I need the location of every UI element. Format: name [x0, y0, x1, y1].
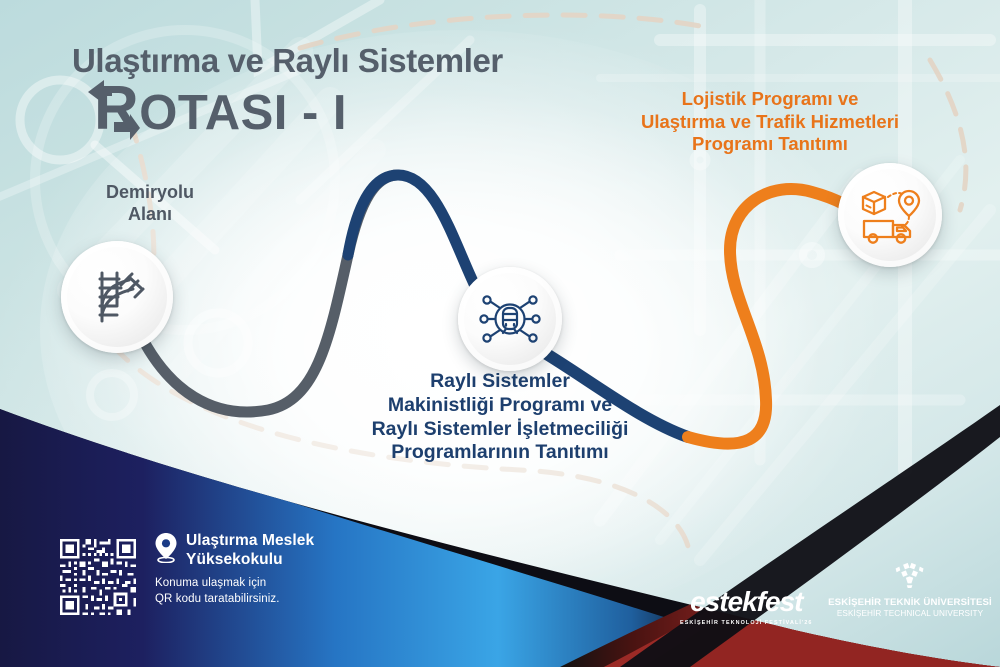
poster-canvas: Ulaştırma ve Raylı Sistemler ROTASI - I …: [0, 0, 1000, 667]
university-name-tr: ESKİŞEHİR TEKNİK ÜNİVERSİTESİ: [820, 597, 1000, 608]
delivery-truck-icon: [857, 183, 923, 247]
station-label-railway-area: Demiryolu Alanı: [70, 182, 230, 226]
station-node-rail-systems[interactable]: [458, 267, 562, 371]
page-title: Ulaştırma ve Raylı Sistemler: [72, 44, 632, 78]
station-label-logistics: Lojistik Programı ve Ulaştırma ve Trafik…: [600, 88, 940, 156]
station-node-railway-area[interactable]: [61, 241, 173, 353]
qr-code[interactable]: [57, 536, 139, 618]
university-name-en: ESKİŞEHİR TECHNICAL UNIVERSITY: [820, 609, 1000, 618]
qr-instruction: Konuma ulaşmak için QR kodu taratabilirs…: [155, 576, 314, 608]
train-network-icon: [478, 287, 542, 351]
qr-location-block: Ulaştırma Meslek Yüksekokulu Konuma ulaş…: [57, 532, 357, 642]
rota-title-row: ROTASI - I: [72, 80, 632, 142]
location-pin-icon: [155, 533, 177, 563]
university-mark-icon: [891, 562, 928, 588]
university-logo: ESKİŞEHİR TEKNİK ÜNİVERSİTESİ ESKİŞEHİR …: [820, 562, 1000, 618]
rota-capital: R: [94, 74, 139, 143]
qr-place-row: Ulaştırma Meslek Yüksekokulu: [155, 532, 314, 569]
rota-rest: OTASI - I: [139, 86, 347, 140]
qr-place-name: Ulaştırma Meslek Yüksekokulu: [186, 532, 314, 569]
estekfest-logo: estekfest ESKİŞEHİR TEKNOLOJİ FESTİVALİ'…: [680, 588, 813, 626]
railway-switch-icon: [85, 265, 149, 329]
estekfest-wordmark: estekfest: [680, 588, 813, 616]
station-node-logistics[interactable]: [838, 163, 942, 267]
estekfest-tagline: ESKİŞEHİR TEKNOLOJİ FESTİVALİ'26: [680, 620, 813, 626]
rota-title: ROTASI - I: [94, 78, 347, 141]
title-block: Ulaştırma ve Raylı Sistemler ROTASI - I: [72, 44, 632, 142]
qr-text-block: Ulaştırma Meslek Yüksekokulu Konuma ulaş…: [155, 532, 314, 608]
